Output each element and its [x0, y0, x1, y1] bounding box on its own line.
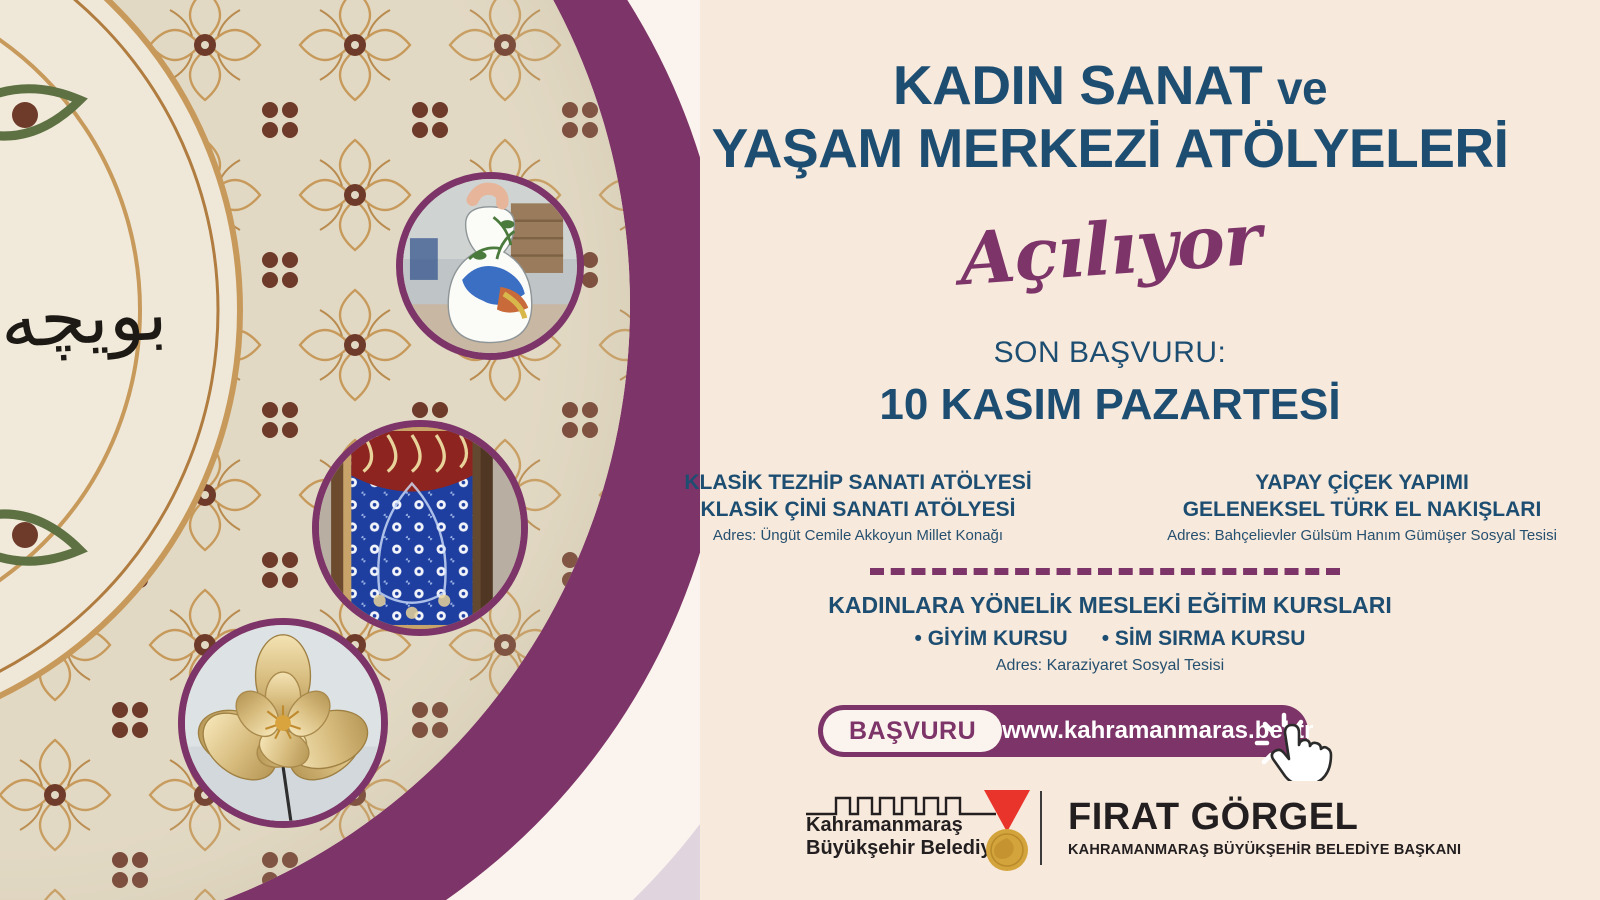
castle-crenellation-icon — [806, 790, 996, 816]
title-line-1: KADIN SANAT ve — [620, 58, 1600, 113]
medal-emblem-icon — [976, 788, 1038, 874]
workshop-name: GELENEKSEL TÜRK EL NAKIŞLARI — [1124, 497, 1600, 524]
workshop-group-2: YAPAY ÇİÇEK YAPIMI GELENEKSEL TÜRK EL NA… — [1110, 470, 1600, 544]
title-script-aciliyor: Açılıyor — [618, 172, 1600, 325]
workshop-name: KLASİK TEZHİP SANATI ATÖLYESİ — [620, 470, 1096, 497]
poster-canvas: بویچه که ده — [0, 0, 1600, 900]
artwork-zone: بویچه که ده — [0, 0, 700, 900]
title-main-text: KADIN SANAT — [893, 54, 1262, 116]
tezhip-panel-icon — [319, 427, 521, 629]
municipality-logo: Kahramanmaraş Büyükşehir Belediyesi — [800, 782, 1030, 874]
cini-vase-icon — [403, 179, 577, 353]
course-item: • SİM SIRMA KURSU — [1102, 627, 1306, 651]
footer-divider — [1040, 791, 1042, 865]
title-conjunction: ve — [1277, 62, 1327, 114]
photo-medallion-gold-flower — [178, 618, 388, 828]
apply-button[interactable]: BAŞVURU www.kahramanmaras.bel.tr — [818, 705, 1308, 757]
click-hand-cursor-icon — [1254, 709, 1334, 781]
content-column: KADIN SANAT ve YAŞAM MERKEZİ ATÖLYELERİ … — [620, 0, 1600, 900]
workshop-name: YAPAY ÇİÇEK YAPIMI — [1124, 470, 1600, 497]
workshop-list: KLASİK TEZHİP SANATI ATÖLYESİ KLASİK ÇİN… — [620, 470, 1600, 544]
photo-medallion-tezhip-panel — [312, 420, 528, 636]
mayor-name: FIRAT GÖRGEL — [1068, 798, 1461, 836]
courses-address: Adres: Karaziyaret Sosyal Tesisi — [620, 657, 1600, 675]
photo-medallion-cini-vase — [396, 172, 584, 360]
deadline-label: SON BAŞVURU: — [620, 336, 1600, 370]
course-item: • GİYİM KURSU — [915, 627, 1068, 651]
workshop-address: Adres: Üngüt Cemile Akkoyun Millet Konağ… — [620, 527, 1096, 544]
deadline-date: 10 KASIM PAZARTESİ — [620, 380, 1600, 430]
workshop-group-1: KLASİK TEZHİP SANATI ATÖLYESİ KLASİK ÇİN… — [620, 470, 1110, 544]
gold-flower-icon — [185, 625, 381, 821]
workshop-name: KLASİK ÇİNİ SANATI ATÖLYESİ — [620, 497, 1096, 524]
workshop-address: Adres: Bahçelievler Gülsüm Hanım Gümüşer… — [1124, 527, 1600, 544]
footer-logos: Kahramanmaraş Büyükşehir Belediyesi FIRA… — [800, 780, 1500, 876]
page-title: KADIN SANAT ve YAŞAM MERKEZİ ATÖLYELERİ — [620, 58, 1600, 176]
apply-label: BAŞVURU — [823, 710, 1002, 752]
title-line-2: YAŞAM MERKEZİ ATÖLYELERİ — [620, 121, 1600, 176]
dashed-divider — [870, 568, 1340, 575]
courses-title: KADINLARA YÖNELİK MESLEKİ EĞİTİM KURSLAR… — [620, 592, 1600, 619]
mayor-block: FIRAT GÖRGEL KAHRAMANMARAŞ BÜYÜKŞEHİR BE… — [1068, 798, 1461, 858]
courses-section: KADINLARA YÖNELİK MESLEKİ EĞİTİM KURSLAR… — [620, 592, 1600, 675]
mayor-role: KAHRAMANMARAŞ BÜYÜKŞEHİR BELEDİYE BAŞKAN… — [1068, 842, 1461, 858]
courses-item-list: • GİYİM KURSU • SİM SIRMA KURSU — [620, 627, 1600, 651]
